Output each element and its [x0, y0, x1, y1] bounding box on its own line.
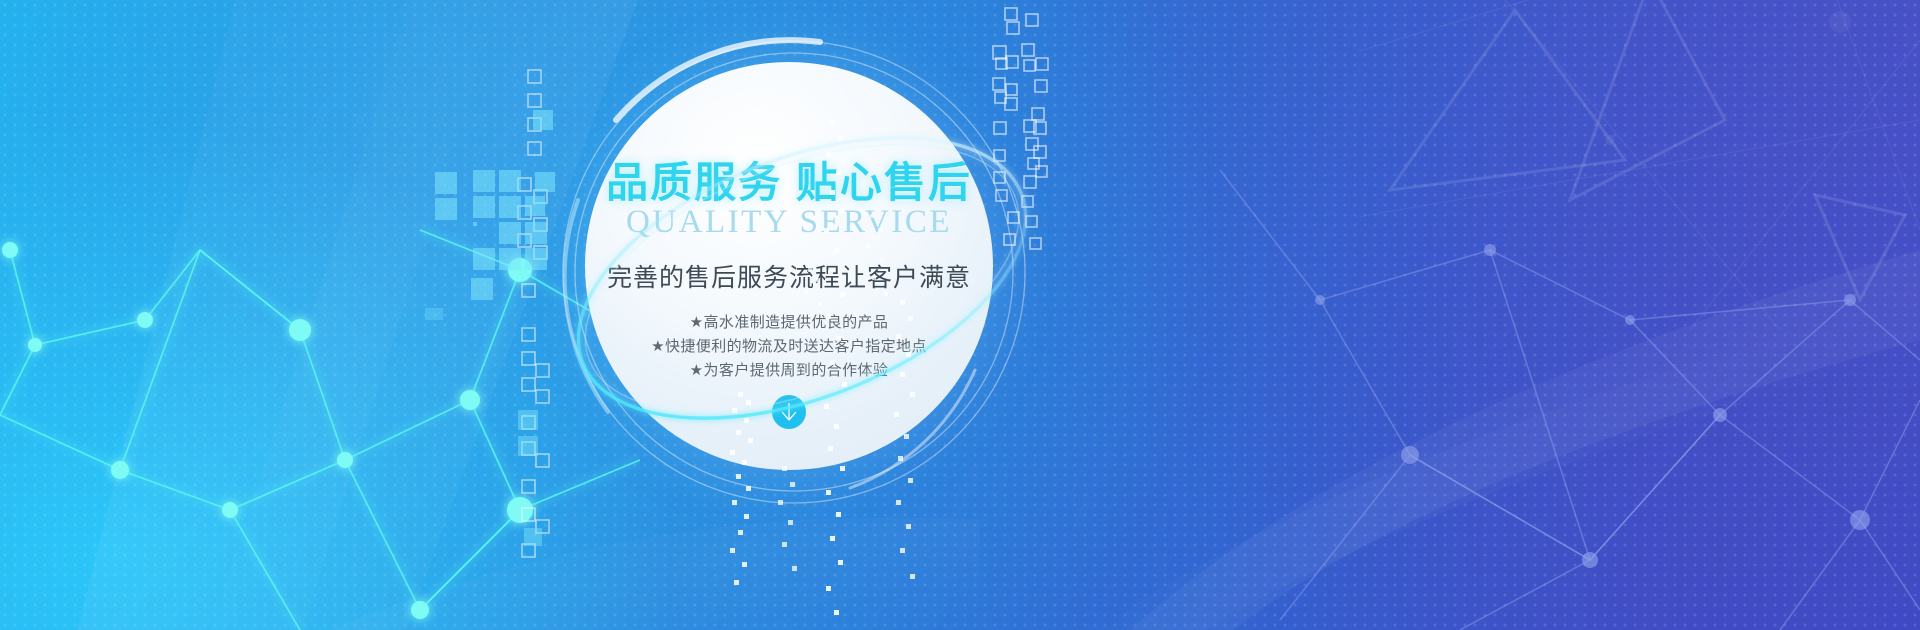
scroll-down-button[interactable]: [772, 395, 806, 429]
square-accent-icon: [498, 400, 568, 580]
arrow-down-icon: [779, 401, 799, 423]
feature-list: ★高水准制造提供优良的产品 ★快捷便利的物流及时送达客户指定地点 ★为客户提供周…: [651, 311, 927, 383]
banner-content: 品质服务 贴心售后 QUALITY SERVICE 完善的售后服务流程让客户满意…: [585, 62, 993, 470]
list-item: ★为客户提供周到的合作体验: [651, 359, 927, 383]
hero-banner: 品质服务 贴心售后 QUALITY SERVICE 完善的售后服务流程让客户满意…: [0, 0, 1920, 630]
wireframe-triangles: [1360, 0, 1920, 330]
list-item: ★快捷便利的物流及时送达客户指定地点: [651, 335, 927, 359]
page-subtitle-english: QUALITY SERVICE: [626, 204, 952, 241]
network-graph-right: [1160, 0, 1920, 630]
page-title: 品质服务 贴心售后: [606, 149, 972, 210]
tagline: 完善的售后服务流程让客户满意: [607, 258, 971, 294]
square-block-cluster-icon: [425, 110, 565, 320]
list-item: ★高水准制造提供优良的产品: [651, 311, 927, 335]
